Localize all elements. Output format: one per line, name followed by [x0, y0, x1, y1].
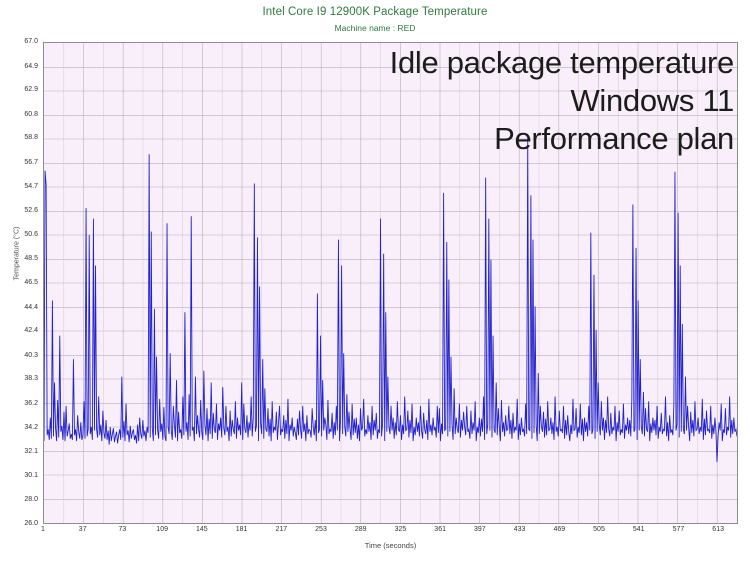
x-tick-label: 397 [458, 526, 502, 533]
x-tick-label: 613 [696, 526, 740, 533]
y-tick-label: 38.3 [0, 375, 38, 383]
y-tick-label: 48.5 [0, 255, 38, 263]
y-tick-label: 52.6 [0, 207, 38, 215]
x-tick-label: 1 [21, 526, 65, 533]
y-tick-label: 28.0 [0, 496, 38, 504]
chart-subtitle: Machine name : RED [0, 23, 750, 33]
y-tick-label: 54.7 [0, 183, 38, 191]
y-tick-label: 34.2 [0, 424, 38, 432]
temperature-series-line [44, 139, 737, 462]
x-tick-label: 253 [299, 526, 343, 533]
x-tick-label: 361 [418, 526, 462, 533]
y-tick-label: 32.1 [0, 448, 38, 456]
x-tick-label: 541 [617, 526, 661, 533]
x-tick-label: 37 [61, 526, 105, 533]
x-tick-label: 469 [537, 526, 581, 533]
y-tick-label: 67.0 [0, 38, 38, 46]
x-tick-label: 73 [100, 526, 144, 533]
y-tick-label: 58.8 [0, 134, 38, 142]
x-axis-title: Time (seconds) [43, 541, 738, 550]
x-tick-label: 145 [180, 526, 224, 533]
y-tick-label: 30.1 [0, 472, 38, 480]
y-tick-label: 56.7 [0, 159, 38, 167]
x-tick-label: 181 [220, 526, 264, 533]
y-tick-label: 62.9 [0, 86, 38, 94]
x-tick-label: 577 [656, 526, 700, 533]
x-tick-label: 109 [140, 526, 184, 533]
x-tick-label: 505 [577, 526, 621, 533]
x-tick-label: 433 [498, 526, 542, 533]
y-tick-label: 44.4 [0, 304, 38, 312]
chart-title: Intel Core I9 12900K Package Temperature [0, 6, 750, 18]
x-tick-label: 289 [339, 526, 383, 533]
x-tick-label: 325 [378, 526, 422, 533]
temperature-chart: Intel Core I9 12900K Package Temperature… [0, 0, 750, 563]
y-tick-label: 36.2 [0, 400, 38, 408]
y-tick-label: 42.4 [0, 327, 38, 335]
x-tick-label: 217 [259, 526, 303, 533]
y-tick-label: 46.5 [0, 279, 38, 287]
plot-area [43, 42, 738, 524]
y-tick-label: 40.3 [0, 352, 38, 360]
y-tick-label: 60.8 [0, 111, 38, 119]
y-tick-label: 50.6 [0, 231, 38, 239]
plot-canvas [44, 43, 737, 523]
y-tick-label: 64.9 [0, 63, 38, 71]
